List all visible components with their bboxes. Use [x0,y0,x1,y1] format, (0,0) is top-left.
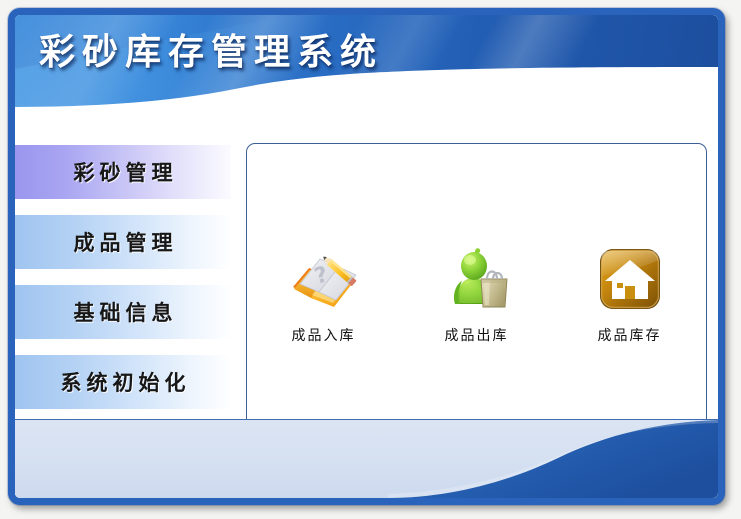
tile-label: 成品出库 [445,325,509,345]
page-title: 彩砂库存管理系统 [39,33,383,73]
module-icon-row: ? [247,242,706,345]
footer-panel [15,419,718,498]
sidebar-menu: 彩砂管理 成品管理 基础信息 系统初始化 [15,145,231,425]
tile-chengpin-ruku[interactable]: ? [263,242,385,345]
sidebar-item-caisha-guanli[interactable]: 彩砂管理 [15,145,231,199]
book-pencil-icon: ? [287,242,361,316]
footer-wave-decoration [388,420,718,498]
body-area: 彩砂管理 成品管理 基础信息 系统初始化 [15,107,718,498]
tile-label: 成品入库 [292,325,356,345]
house-warehouse-icon [593,242,667,316]
sidebar-item-xitong-chushihua[interactable]: 系统初始化 [15,355,231,409]
sidebar-item-label: 彩砂管理 [69,157,178,187]
sidebar-item-jichu-xinxi[interactable]: 基础信息 [15,285,231,339]
header-banner: 彩砂库存管理系统 [15,15,718,107]
sidebar-item-label: 系统初始化 [56,367,191,397]
application-window: 彩砂库存管理系统 彩砂管理 成品管理 基础信息 [0,0,741,519]
sidebar-item-label: 成品管理 [69,227,178,257]
header-curve-sweep [15,67,718,107]
content-panel: ? [246,143,707,455]
tile-label: 成品库存 [598,325,662,345]
sidebar-item-label: 基础信息 [69,297,178,327]
tile-chengpin-chuku[interactable]: 成品出库 [416,242,538,345]
sidebar-item-chengpin-guanli[interactable]: 成品管理 [15,215,231,269]
main-window-frame: 彩砂库存管理系统 彩砂管理 成品管理 基础信息 [8,8,725,505]
person-shopping-bag-icon [440,242,514,316]
tile-chengpin-kucun[interactable]: 成品库存 [569,242,691,345]
main-window-content: 彩砂库存管理系统 彩砂管理 成品管理 基础信息 [15,15,718,498]
